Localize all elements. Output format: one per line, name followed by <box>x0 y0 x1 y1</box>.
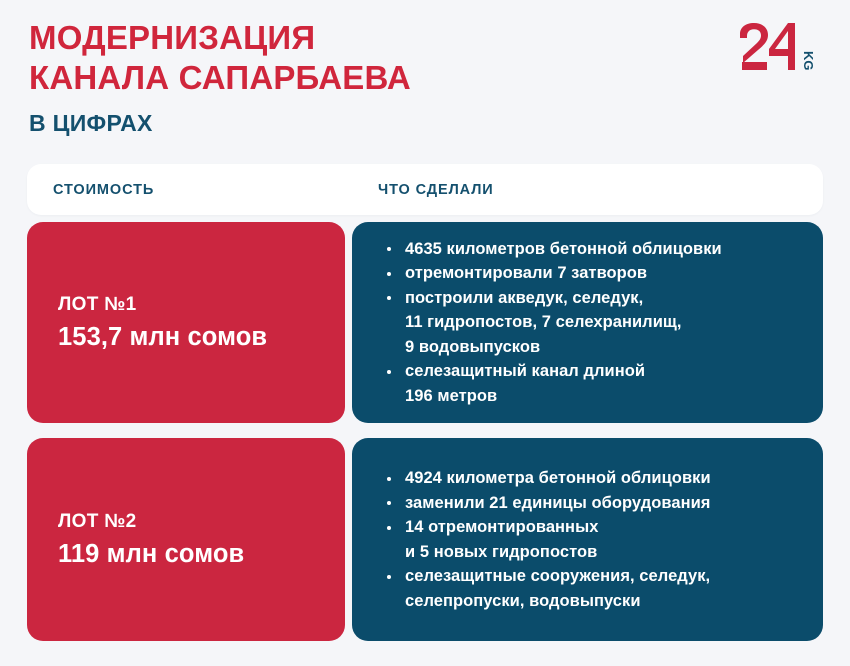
list-item: 4635 километров бетонной облицовки <box>384 237 805 262</box>
table-row: ЛОТ №2 119 млн сомов 4924 километра бето… <box>27 438 823 641</box>
lot-amount: 153,7 млн сомов <box>58 320 345 354</box>
table-header-row: СТОИМОСТЬ ЧТО СДЕЛАЛИ <box>27 164 823 215</box>
lot-label: ЛОТ №2 <box>58 509 345 535</box>
svg-text:KG: KG <box>801 51 813 71</box>
done-list: 4635 километров бетонной облицовки отрем… <box>384 237 805 409</box>
list-item-line: 9 водовыпусков <box>405 335 805 360</box>
list-item-line: селезащитный канал длиной <box>405 359 805 384</box>
list-item-line: построили акведук, селедук, <box>405 286 805 311</box>
page-subtitle: В ЦИФРАХ <box>29 108 411 138</box>
cost-card-lot-2: ЛОТ №2 119 млн сомов <box>27 438 345 641</box>
list-item-line: 11 гидропостов, 7 селехранилищ, <box>405 310 805 335</box>
list-item-line: 14 отремонтированных <box>405 515 805 540</box>
list-item: селезащитные сооружения, селедук, селепр… <box>384 564 805 613</box>
table-row: ЛОТ №1 153,7 млн сомов 4635 километров б… <box>27 222 823 423</box>
list-item-line: заменили 21 единицы оборудования <box>405 491 805 516</box>
logo-number-24 <box>740 23 795 70</box>
lot-amount: 119 млн сомов <box>58 537 345 571</box>
header: МОДЕРНИЗАЦИЯ КАНАЛА САПАРБАЕВА В ЦИФРАХ … <box>29 18 830 143</box>
list-item-line: селезащитные сооружения, селедук, <box>405 564 805 589</box>
page-title-line-1: МОДЕРНИЗАЦИЯ <box>29 18 411 58</box>
list-item: селезащитный канал длиной 196 метров <box>384 359 805 408</box>
table-body: ЛОТ №1 153,7 млн сомов 4635 километров б… <box>27 222 823 641</box>
lots-table: СТОИМОСТЬ ЧТО СДЕЛАЛИ ЛОТ №1 153,7 млн с… <box>27 164 823 641</box>
list-item: 14 отремонтированных и 5 новых гидропост… <box>384 515 805 564</box>
done-card-lot-2: 4924 километра бетонной облицовки замени… <box>352 438 823 641</box>
24kg-logo: KG <box>733 23 813 85</box>
page-title-line-2: КАНАЛА САПАРБАЕВА <box>29 58 411 98</box>
infographic-page: МОДЕРНИЗАЦИЯ КАНАЛА САПАРБАЕВА В ЦИФРАХ … <box>0 0 850 666</box>
list-item: 4924 километра бетонной облицовки <box>384 466 805 491</box>
list-item-line: отремонтировали 7 затворов <box>405 261 805 286</box>
list-item-line: 4924 километра бетонной облицовки <box>405 466 805 491</box>
list-item-line: селепропуски, водовыпуски <box>405 589 805 614</box>
lot-label: ЛОТ №1 <box>58 292 345 318</box>
list-item: отремонтировали 7 затворов <box>384 261 805 286</box>
cost-card-lot-1: ЛОТ №1 153,7 млн сомов <box>27 222 345 423</box>
done-list: 4924 километра бетонной облицовки замени… <box>384 466 805 613</box>
column-header-done: ЧТО СДЕЛАЛИ <box>349 182 494 198</box>
done-card-lot-1: 4635 километров бетонной облицовки отрем… <box>352 222 823 423</box>
list-item-line: 4635 километров бетонной облицовки <box>405 237 805 262</box>
list-item-line: и 5 новых гидропостов <box>405 540 805 565</box>
title-block: МОДЕРНИЗАЦИЯ КАНАЛА САПАРБАЕВА В ЦИФРАХ <box>29 18 411 138</box>
column-header-cost: СТОИМОСТЬ <box>27 182 349 198</box>
logo-suffix-kg: KG <box>801 51 813 71</box>
list-item: построили акведук, селедук, 11 гидропост… <box>384 286 805 360</box>
list-item: заменили 21 единицы оборудования <box>384 491 805 516</box>
list-item-line: 196 метров <box>405 384 805 409</box>
